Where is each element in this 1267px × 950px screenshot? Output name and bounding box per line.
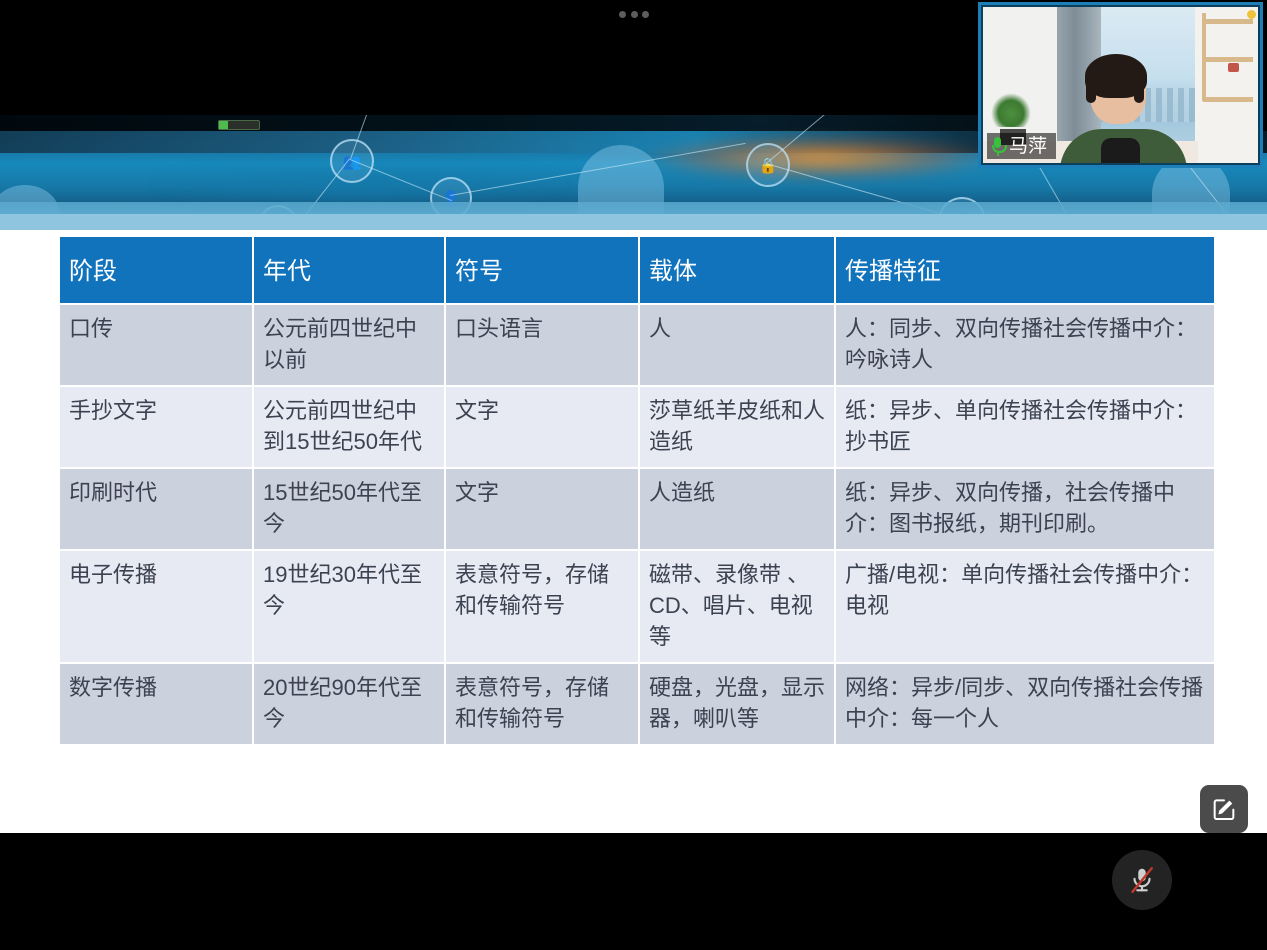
cell-medium: 人造纸 — [640, 469, 834, 549]
table-row: 手抄文字 公元前四世纪中到15世纪50年代 文字 莎草纸羊皮纸和人造纸 纸：异步… — [60, 387, 1214, 467]
cell-symbol: 表意符号，存储和传输符号 — [446, 551, 638, 662]
column-header-era: 年代 — [254, 237, 444, 303]
cell-stage: 口传 — [60, 305, 252, 385]
table-row: 印刷时代 15世纪50年代至今 文字 人造纸 纸：异步、双向传播，社会传播中介：… — [60, 469, 1214, 549]
cell-stage: 手抄文字 — [60, 387, 252, 467]
microphone-muted-icon — [1127, 865, 1157, 895]
cell-era: 19世纪30年代至今 — [254, 551, 444, 662]
cell-stage: 数字传播 — [60, 664, 252, 744]
microphone-icon — [991, 137, 1004, 156]
participant-name: 马萍 — [1009, 137, 1047, 156]
cell-symbol: 文字 — [446, 469, 638, 549]
plant-decor — [991, 93, 1031, 127]
more-options-menu-button[interactable] — [619, 7, 649, 21]
cell-medium: 人 — [640, 305, 834, 385]
status-dot — [1247, 10, 1256, 19]
cell-symbol: 口头语言 — [446, 305, 638, 385]
cell-features: 广播/电视：单向传播社会传播中介：电视 — [836, 551, 1214, 662]
cell-features: 纸：异步、双向传播，社会传播中介：图书报纸，期刊印刷。 — [836, 469, 1214, 549]
column-header-medium: 载体 — [640, 237, 834, 303]
participant-name-badge: 马萍 — [987, 133, 1056, 159]
table-row: 口传 公元前四世纪中以前 口头语言 人 人：同步、双向传播社会传播中介：吟咏诗人 — [60, 305, 1214, 385]
table-header-row: 阶段 年代 符号 载体 传播特征 — [60, 237, 1214, 303]
cell-era: 15世纪50年代至今 — [254, 469, 444, 549]
column-header-features: 传播特征 — [836, 237, 1214, 303]
cell-stage: 电子传播 — [60, 551, 252, 662]
table-row: 电子传播 19世纪30年代至今 表意符号，存储和传输符号 磁带、录像带 、CD、… — [60, 551, 1214, 662]
column-header-stage: 阶段 — [60, 237, 252, 303]
shared-slide[interactable]: 👥 👤 👤 🔒 👤 阶段 — [0, 115, 1267, 833]
cell-medium: 莎草纸羊皮纸和人造纸 — [640, 387, 834, 467]
cell-features: 纸：异步、单向传播社会传播中介：抄书匠 — [836, 387, 1214, 467]
dot-icon — [642, 11, 649, 18]
annotate-pencil-icon — [1210, 795, 1238, 823]
participant-video-tile[interactable]: 马萍 — [978, 2, 1263, 168]
toy-horse-decor — [1228, 63, 1239, 72]
cell-symbol: 文字 — [446, 387, 638, 467]
cell-features: 人：同步、双向传播社会传播中介：吟咏诗人 — [836, 305, 1214, 385]
dot-icon — [619, 11, 626, 18]
table-row: 数字传播 20世纪90年代至今 表意符号，存储和传输符号 硬盘，光盘，显示器，喇… — [60, 664, 1214, 744]
cell-symbol: 表意符号，存储和传输符号 — [446, 664, 638, 744]
column-header-symbol: 符号 — [446, 237, 638, 303]
dot-icon — [631, 11, 638, 18]
progress-bar-artifact — [218, 120, 260, 130]
cell-stage: 印刷时代 — [60, 469, 252, 549]
video-stream: 马萍 — [983, 7, 1258, 163]
cell-medium: 硬盘，光盘，显示器，喇叭等 — [640, 664, 834, 744]
annotate-button[interactable] — [1200, 785, 1248, 833]
cell-features: 网络：异步/同步、双向传播社会传播中介：每一个人 — [836, 664, 1214, 744]
mute-toggle-button[interactable] — [1112, 850, 1172, 910]
communication-history-table: 阶段 年代 符号 载体 传播特征 口传 公元前四世纪中以前 口头语言 人 人：同… — [58, 235, 1216, 746]
cell-medium: 磁带、录像带 、CD、唱片、电视等 — [640, 551, 834, 662]
cell-era: 20世纪90年代至今 — [254, 664, 444, 744]
cell-era: 公元前四世纪中到15世纪50年代 — [254, 387, 444, 467]
meeting-screen: 👥 👤 👤 🔒 👤 阶段 — [0, 0, 1267, 950]
cell-era: 公元前四世纪中以前 — [254, 305, 444, 385]
